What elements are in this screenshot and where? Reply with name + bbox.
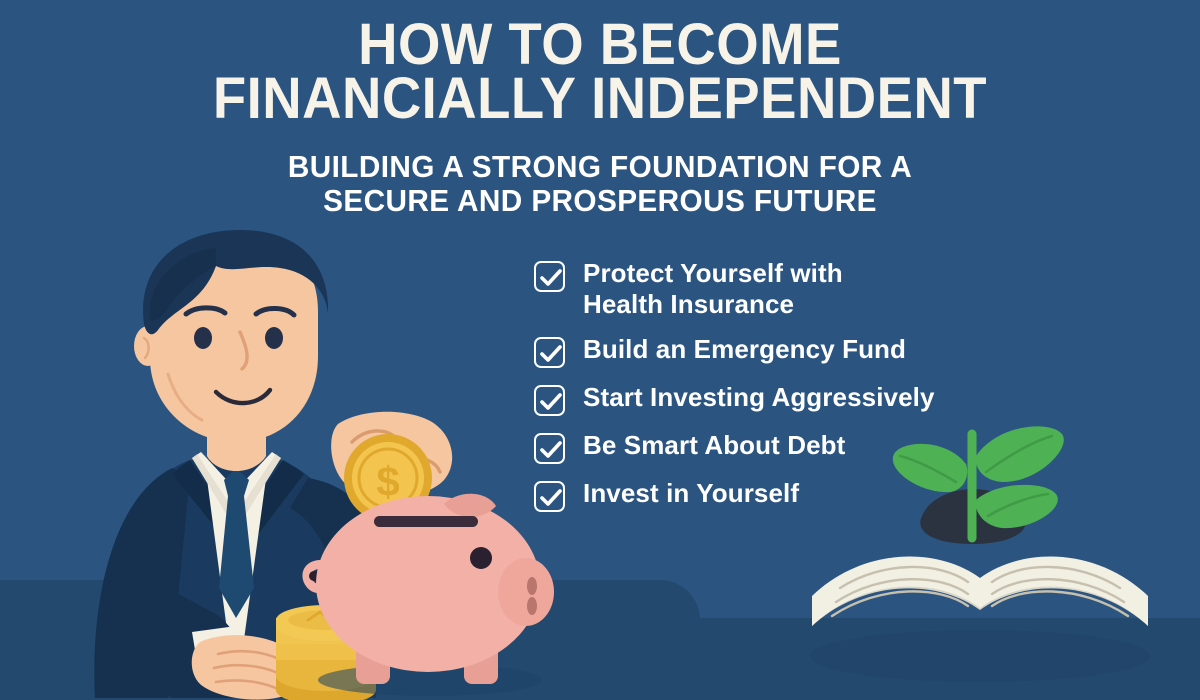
eye-left xyxy=(194,327,212,349)
list-item[interactable]: Build an Emergency Fund xyxy=(534,334,1054,368)
list-item[interactable]: Invest in Yourself xyxy=(534,478,1054,512)
businessman-illustration: $ xyxy=(40,228,460,698)
book-shadow xyxy=(810,630,1150,682)
pig-eye xyxy=(470,547,492,569)
list-item[interactable]: Be Smart About Debt xyxy=(534,430,1054,464)
page-title: HOW TO BECOME FINANCIALLY INDEPENDENT xyxy=(0,18,1200,126)
eye-right xyxy=(265,327,283,349)
title-line-1: HOW TO BECOME xyxy=(36,18,1164,72)
list-item-label: Invest in Yourself xyxy=(583,478,799,509)
checkbox-checked-icon[interactable] xyxy=(534,481,565,512)
list-item[interactable]: Protect Yourself with Health Insurance xyxy=(534,258,1054,320)
list-item-label: Build an Emergency Fund xyxy=(583,334,906,365)
subtitle-line-2: SECURE AND PROSPEROUS FUTURE xyxy=(24,184,1176,218)
coin-slot xyxy=(374,516,478,527)
checkbox-checked-icon[interactable] xyxy=(534,261,565,292)
list-item-label: Protect Yourself with Health Insurance xyxy=(583,258,923,320)
checkbox-checked-icon[interactable] xyxy=(534,337,565,368)
open-book xyxy=(812,557,1148,626)
subtitle-line-1: BUILDING A STRONG FOUNDATION FOR A xyxy=(24,150,1176,184)
page-subtitle: BUILDING A STRONG FOUNDATION FOR A SECUR… xyxy=(0,150,1200,218)
pig-snout xyxy=(498,558,554,626)
svg-text:$: $ xyxy=(376,458,399,505)
list-item-label: Be Smart About Debt xyxy=(583,430,845,461)
checkbox-checked-icon[interactable] xyxy=(534,433,565,464)
list-item[interactable]: Start Investing Aggressively xyxy=(534,382,1054,416)
list-item-label: Start Investing Aggressively xyxy=(583,382,935,413)
title-line-2: FINANCIALLY INDEPENDENT xyxy=(36,72,1164,126)
checkbox-checked-icon[interactable] xyxy=(534,385,565,416)
checklist: Protect Yourself with Health Insurance B… xyxy=(534,258,1054,526)
infographic-canvas: HOW TO BECOME FINANCIALLY INDEPENDENT BU… xyxy=(0,0,1200,700)
